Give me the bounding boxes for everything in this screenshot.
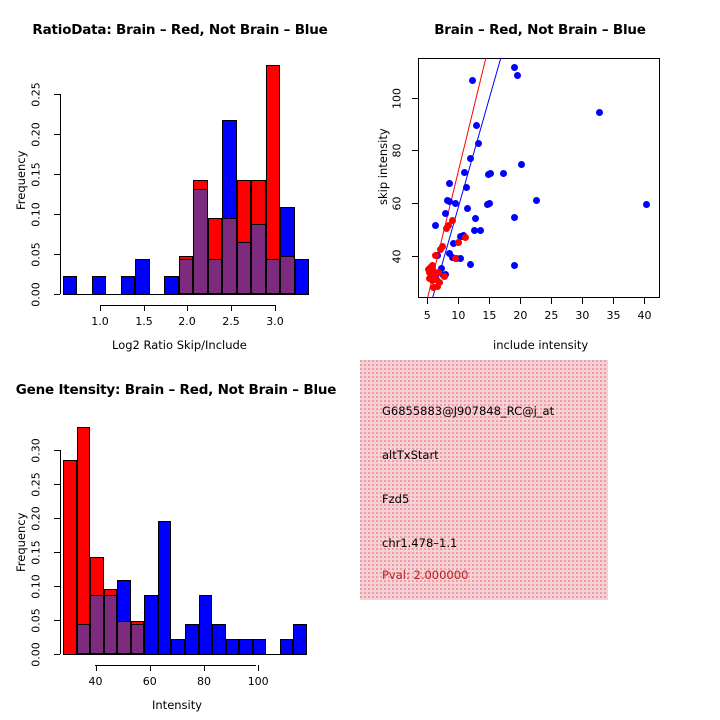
scatter-point-brain-3 — [462, 234, 469, 241]
ratio-x-ticklabel-4: 3.0 — [261, 315, 289, 328]
scatter-x-tick-20 — [520, 298, 521, 304]
gene-x-ticklabel-40: 40 — [80, 675, 112, 688]
gene-x-tick-40 — [96, 665, 97, 671]
scatter-point-brain-6 — [437, 246, 444, 253]
gene-bar-3-overlap — [104, 595, 118, 654]
ratio-bar-15-overlap — [280, 256, 294, 294]
gene-bar-9-top — [185, 624, 199, 655]
scatter-point-notbrain-4 — [475, 140, 482, 147]
ratio-bar-12-top — [237, 180, 251, 243]
scatter-x-tick-35 — [613, 298, 614, 304]
ratio-x-tick-4 — [275, 305, 276, 311]
gene-x-axis-line — [95, 665, 256, 666]
ratio-y-tick-3 — [54, 174, 60, 175]
scatter-point-notbrain-21 — [442, 210, 449, 217]
gene-y-tick-6 — [54, 450, 60, 451]
gene-y-tick-2 — [54, 586, 60, 587]
gene-y-ticklabel-0: 0.00 — [30, 638, 43, 672]
ratio-x-tick-2 — [187, 305, 188, 311]
scatter-point-brain-27 — [435, 269, 442, 276]
scatter-xlabel: include intensity — [493, 338, 588, 352]
ratio-bar-14-overlap — [266, 259, 280, 294]
gene-x-ticklabel-100: 100 — [242, 675, 274, 688]
scatter-x-ticklabel-40: 40 — [630, 309, 658, 322]
ratio-x-ticklabel-1: 1.5 — [130, 315, 158, 328]
ratio-bar-10-top — [208, 218, 222, 260]
scatter-point-notbrain-5 — [467, 155, 474, 162]
scatter-x-tick-5 — [427, 298, 428, 304]
ratio-y-ticklabel-4: 0.20 — [30, 118, 43, 152]
ratio-bar-0-top — [63, 276, 77, 295]
scatter-point-notbrain-20 — [643, 201, 650, 208]
scatter-x-tick-15 — [489, 298, 490, 304]
gene-y-ticklabel-2: 0.10 — [30, 570, 43, 604]
scatter-point-notbrain-11 — [518, 161, 525, 168]
gene-bar-13-top — [239, 639, 253, 655]
scatter-title: Brain – Red, Not Brain – Blue — [360, 22, 720, 38]
gene-bar-6-top — [144, 595, 158, 655]
pval-text: Pval: 2.000000 — [382, 568, 468, 582]
ratio-y-ticklabel-0: 0.00 — [30, 278, 43, 312]
ratio-bar-16-top — [295, 259, 309, 295]
r-multipanel-figure: RatioData: Brain – Red, Not Brain – Blue… — [0, 0, 720, 720]
gene-y-tick-4 — [54, 518, 60, 519]
gene-bar-8-top — [171, 639, 185, 655]
scatter-point-notbrain-16 — [452, 200, 459, 207]
scatter-point-notbrain-9 — [487, 170, 494, 177]
gene-symbol-text: Fzd5 — [382, 492, 409, 506]
ratio-bar-13-top — [251, 180, 265, 226]
gene-bar-14-top — [253, 639, 267, 655]
scatter-point-notbrain-12 — [446, 180, 453, 187]
scatter-x-ticklabel-35: 35 — [599, 309, 627, 322]
ratio-bar-2-top — [92, 276, 106, 295]
gene-bar-1-top — [77, 427, 91, 625]
gene-y-ticklabel-1: 0.05 — [30, 604, 43, 638]
ratio-bar-10-overlap — [208, 259, 222, 294]
event-type-text: altTxStart — [382, 448, 439, 462]
scatter-point-notbrain-6 — [596, 109, 603, 116]
gene-bar-12-top — [226, 639, 240, 655]
gene-y-ticklabel-3: 0.15 — [30, 536, 43, 570]
scatter-y-tick-100 — [412, 98, 418, 99]
gene-bar-5-overlap — [131, 624, 145, 654]
ratio-y-tick-5 — [54, 94, 60, 95]
gene-bar-4-top — [117, 580, 131, 622]
panel-gene-intensity-histogram: Gene Itensity: Brain – Red, Not Brain – … — [0, 360, 360, 720]
ratio-bar-4-top — [121, 276, 135, 295]
ratio-bar-7-top — [164, 276, 178, 295]
gene-bar-0-top — [63, 460, 77, 655]
gene-bar-2-overlap — [90, 595, 104, 654]
scatter-ylabel: skip intensity — [376, 128, 390, 205]
gene-histogram-title: Gene Itensity: Brain – Red, Not Brain – … — [0, 382, 360, 398]
scatter-y-tick-80 — [412, 150, 418, 151]
scatter-x-tick-25 — [551, 298, 552, 304]
scatter-x-tick-10 — [458, 298, 459, 304]
ratio-bar-12-overlap — [237, 242, 251, 294]
scatter-y-ticklabel-40: 40 — [391, 245, 404, 269]
gene-y-ticklabel-4: 0.20 — [30, 502, 43, 536]
gene-bar-7-top — [158, 521, 172, 655]
gene-x-ticklabel-80: 80 — [188, 675, 220, 688]
ratio-y-tick-1 — [54, 254, 60, 255]
scatter-x-tick-30 — [582, 298, 583, 304]
annotation-info-box: G6855883@J907848_RC@j_at altTxStart Fzd5… — [360, 360, 608, 600]
scatter-y-ticklabel-100: 100 — [391, 84, 404, 114]
gene-histogram-xlabel: Intensity — [152, 698, 202, 712]
gene-x-tick-60 — [150, 665, 151, 671]
scatter-point-notbrain-3 — [473, 122, 480, 129]
scatter-point-notbrain-22 — [464, 205, 471, 212]
scatter-point-notbrain-0 — [511, 64, 518, 71]
ratio-x-ticklabel-2: 2.0 — [173, 315, 201, 328]
gene-bar-11-top — [212, 624, 226, 655]
locus-text: chr1.478–1.1 — [382, 536, 457, 550]
gene-bar-10-top — [199, 595, 213, 655]
panel-intensity-scatter: Brain – Red, Not Brain – Blue skip inten… — [360, 0, 720, 360]
scatter-y-ticklabel-60: 60 — [391, 192, 404, 216]
gene-bar-4-overlap — [117, 621, 131, 654]
scatter-point-notbrain-37 — [511, 262, 518, 269]
panel-ratio-histogram: RatioData: Brain – Red, Not Brain – Blue… — [0, 0, 360, 360]
scatter-point-notbrain-36 — [467, 261, 474, 268]
scatter-x-ticklabel-20: 20 — [506, 309, 534, 322]
gene-bar-2-top — [90, 557, 104, 596]
ratio-y-tick-2 — [54, 214, 60, 215]
panel-annotation-info: G6855883@J907848_RC@j_at altTxStart Fzd5… — [360, 360, 720, 720]
scatter-point-notbrain-27 — [477, 227, 484, 234]
gene-y-tick-1 — [54, 620, 60, 621]
ratio-bar-8-overlap — [179, 259, 193, 294]
scatter-point-notbrain-10 — [500, 170, 507, 177]
scatter-point-notbrain-25 — [432, 222, 439, 229]
gene-x-tick-80 — [204, 665, 205, 671]
ratio-histogram-xlabel: Log2 Ratio Skip/Include — [112, 338, 247, 352]
scatter-x-ticklabel-5: 5 — [413, 309, 441, 322]
gene-y-ticklabel-5: 0.25 — [30, 468, 43, 502]
ratio-bar-9-overlap — [193, 189, 207, 294]
gene-y-ticklabel-6: 0.30 — [30, 434, 43, 468]
gene-y-tick-5 — [54, 484, 60, 485]
scatter-x-tick-40 — [644, 298, 645, 304]
probe-id-text: G6855883@J907848_RC@j_at — [382, 404, 554, 418]
scatter-y-tick-60 — [412, 203, 418, 204]
ratio-bar-15-top — [280, 207, 294, 257]
gene-bar-17-top — [293, 624, 307, 655]
scatter-point-notbrain-18 — [486, 200, 493, 207]
gene-y-tick-3 — [54, 552, 60, 553]
gene-x-tick-100 — [258, 665, 259, 671]
ratio-bar-14-top — [266, 65, 280, 260]
ratio-x-tick-1 — [144, 305, 145, 311]
scatter-x-ticklabel-10: 10 — [444, 309, 472, 322]
gene-bar-1-overlap — [77, 624, 91, 654]
ratio-histogram-ylabel: Frequency — [14, 151, 28, 210]
scatter-x-ticklabel-30: 30 — [568, 309, 596, 322]
scatter-point-brain-2 — [443, 225, 450, 232]
ratio-x-ticklabel-0: 1.0 — [86, 315, 114, 328]
scatter-point-brain-24 — [430, 284, 437, 291]
scatter-point-notbrain-23 — [472, 215, 479, 222]
scatter-data-layer — [418, 58, 660, 298]
ratio-x-tick-3 — [231, 305, 232, 311]
scatter-y-ticklabel-80: 80 — [391, 139, 404, 163]
scatter-point-notbrain-13 — [463, 184, 470, 191]
gene-y-tick-0 — [54, 654, 60, 655]
ratio-y-tick-0 — [54, 294, 60, 295]
scatter-point-brain-8 — [455, 239, 462, 246]
scatter-x-ticklabel-25: 25 — [537, 309, 565, 322]
scatter-point-brain-26 — [429, 262, 436, 269]
scatter-x-ticklabel-15: 15 — [475, 309, 503, 322]
ratio-y-ticklabel-1: 0.05 — [30, 238, 43, 272]
scatter-y-tick-40 — [412, 256, 418, 257]
ratio-y-tick-4 — [54, 134, 60, 135]
ratio-x-ticklabel-3: 2.5 — [217, 315, 245, 328]
scatter-point-notbrain-19 — [533, 197, 540, 204]
gene-x-ticklabel-60: 60 — [134, 675, 166, 688]
scatter-point-notbrain-1 — [514, 72, 521, 79]
ratio-bar-11-overlap — [222, 218, 236, 294]
gene-histogram-ylabel: Frequency — [14, 513, 28, 572]
scatter-point-notbrain-2 — [469, 77, 476, 84]
ratio-y-ticklabel-5: 0.25 — [30, 78, 43, 112]
ratio-bar-5-top — [135, 259, 149, 295]
gene-bar-16-top — [280, 639, 294, 655]
scatter-fit-line-red — [427, 58, 486, 298]
ratio-y-axis-line — [60, 94, 61, 294]
ratio-x-tick-0 — [100, 305, 101, 311]
ratio-histogram-title: RatioData: Brain – Red, Not Brain – Blue — [0, 22, 360, 38]
ratio-bar-11-top — [222, 120, 236, 219]
ratio-bar-13-overlap — [251, 224, 265, 294]
gene-y-axis-line — [60, 450, 61, 654]
ratio-y-ticklabel-2: 0.10 — [30, 198, 43, 232]
ratio-y-ticklabel-3: 0.15 — [30, 158, 43, 192]
scatter-point-notbrain-24 — [511, 214, 518, 221]
